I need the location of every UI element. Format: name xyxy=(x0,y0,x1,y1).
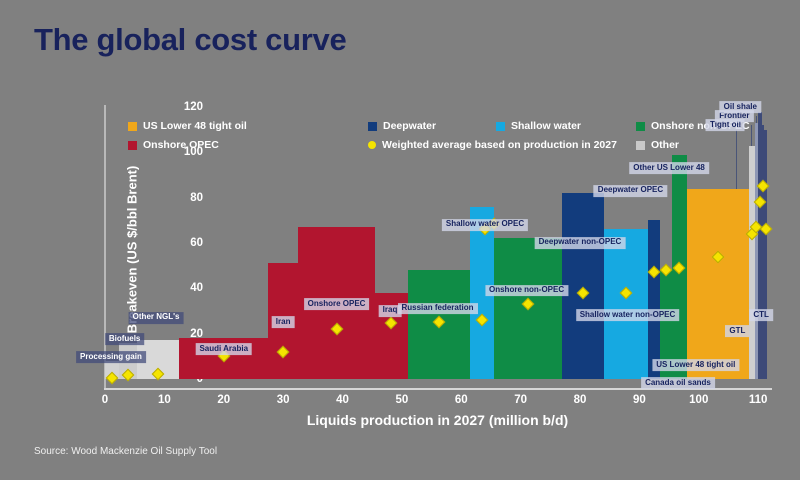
x-tick-label: 100 xyxy=(689,394,708,406)
bar-label-ctl: CTL xyxy=(749,310,773,322)
x-tick-label: 0 xyxy=(102,394,108,406)
bar-us-lower-48-tight-oil[interactable] xyxy=(687,189,749,379)
bar-label-onshore-non-opec: Onshore non-OPEC xyxy=(485,285,568,297)
x-tick-label: 10 xyxy=(158,394,171,406)
x-tick-label: 90 xyxy=(633,394,646,406)
x-axis-label: Liquids production in 2027 (million b/d) xyxy=(105,412,770,428)
bar-label-deepwater-non-opec: Deepwater non-OPEC xyxy=(535,237,626,249)
bar-label-processing-gain: Processing gain xyxy=(76,352,146,364)
bar-label-deepwater-opec: Deepwater OPEC xyxy=(594,185,667,197)
bar-label-oil-shale: Oil shale xyxy=(720,101,761,113)
label-leader-line xyxy=(756,116,757,123)
bar-label-shallow-water-non-opec: Shallow water non-OPEC xyxy=(576,310,680,322)
x-tick-label: 50 xyxy=(395,394,408,406)
page-title: The global cost curve xyxy=(34,22,346,58)
x-tick-label: 70 xyxy=(514,394,527,406)
chart-page: The global cost curve US Lower 48 tight … xyxy=(0,0,800,480)
source-note: Source: Wood Mackenzie Oil Supply Tool xyxy=(34,446,217,457)
bars-layer: Processing gainBiofuelsOther NGL'sSaudi … xyxy=(105,107,770,388)
x-axis-ticks: 0102030405060708090100110 xyxy=(105,388,770,408)
bar-label-onshore-opec: Onshore OPEC xyxy=(304,298,370,310)
bar-label-gtl: GTL xyxy=(725,325,749,337)
x-tick-label: 110 xyxy=(749,394,768,406)
bar-label-other-us-lower-48: Other US Lower 48 xyxy=(629,162,709,174)
bar-label-biofuels: Biofuels xyxy=(105,333,145,345)
x-tick-label: 20 xyxy=(217,394,230,406)
bar-label-shallow-water-opec: Shallow water OPEC xyxy=(442,219,528,231)
x-tick-label: 60 xyxy=(455,394,468,406)
x-tick-label: 40 xyxy=(336,394,349,406)
bar-label-other-ngl-s: Other NGL's xyxy=(129,312,184,324)
bar-label-russian-federation: Russian federation xyxy=(397,303,477,315)
bar-label-iran: Iran xyxy=(272,316,295,328)
bar-shallow-water-non-opec[interactable] xyxy=(604,229,649,379)
label-leader-line xyxy=(751,125,752,145)
bar-label-saudi-arabia: Saudi Arabia xyxy=(195,344,252,356)
x-tick-label: 80 xyxy=(574,394,587,406)
bar-deepwater-opec[interactable] xyxy=(648,220,660,379)
bar-ctl[interactable] xyxy=(764,130,767,379)
plot-area: Breakeven (US $/bbl Brent) 0204060801001… xyxy=(105,107,770,388)
x-tick-label: 30 xyxy=(277,394,290,406)
bar-label-us-lower-48-tight-oil: US Lower 48 tight oil xyxy=(652,359,739,371)
